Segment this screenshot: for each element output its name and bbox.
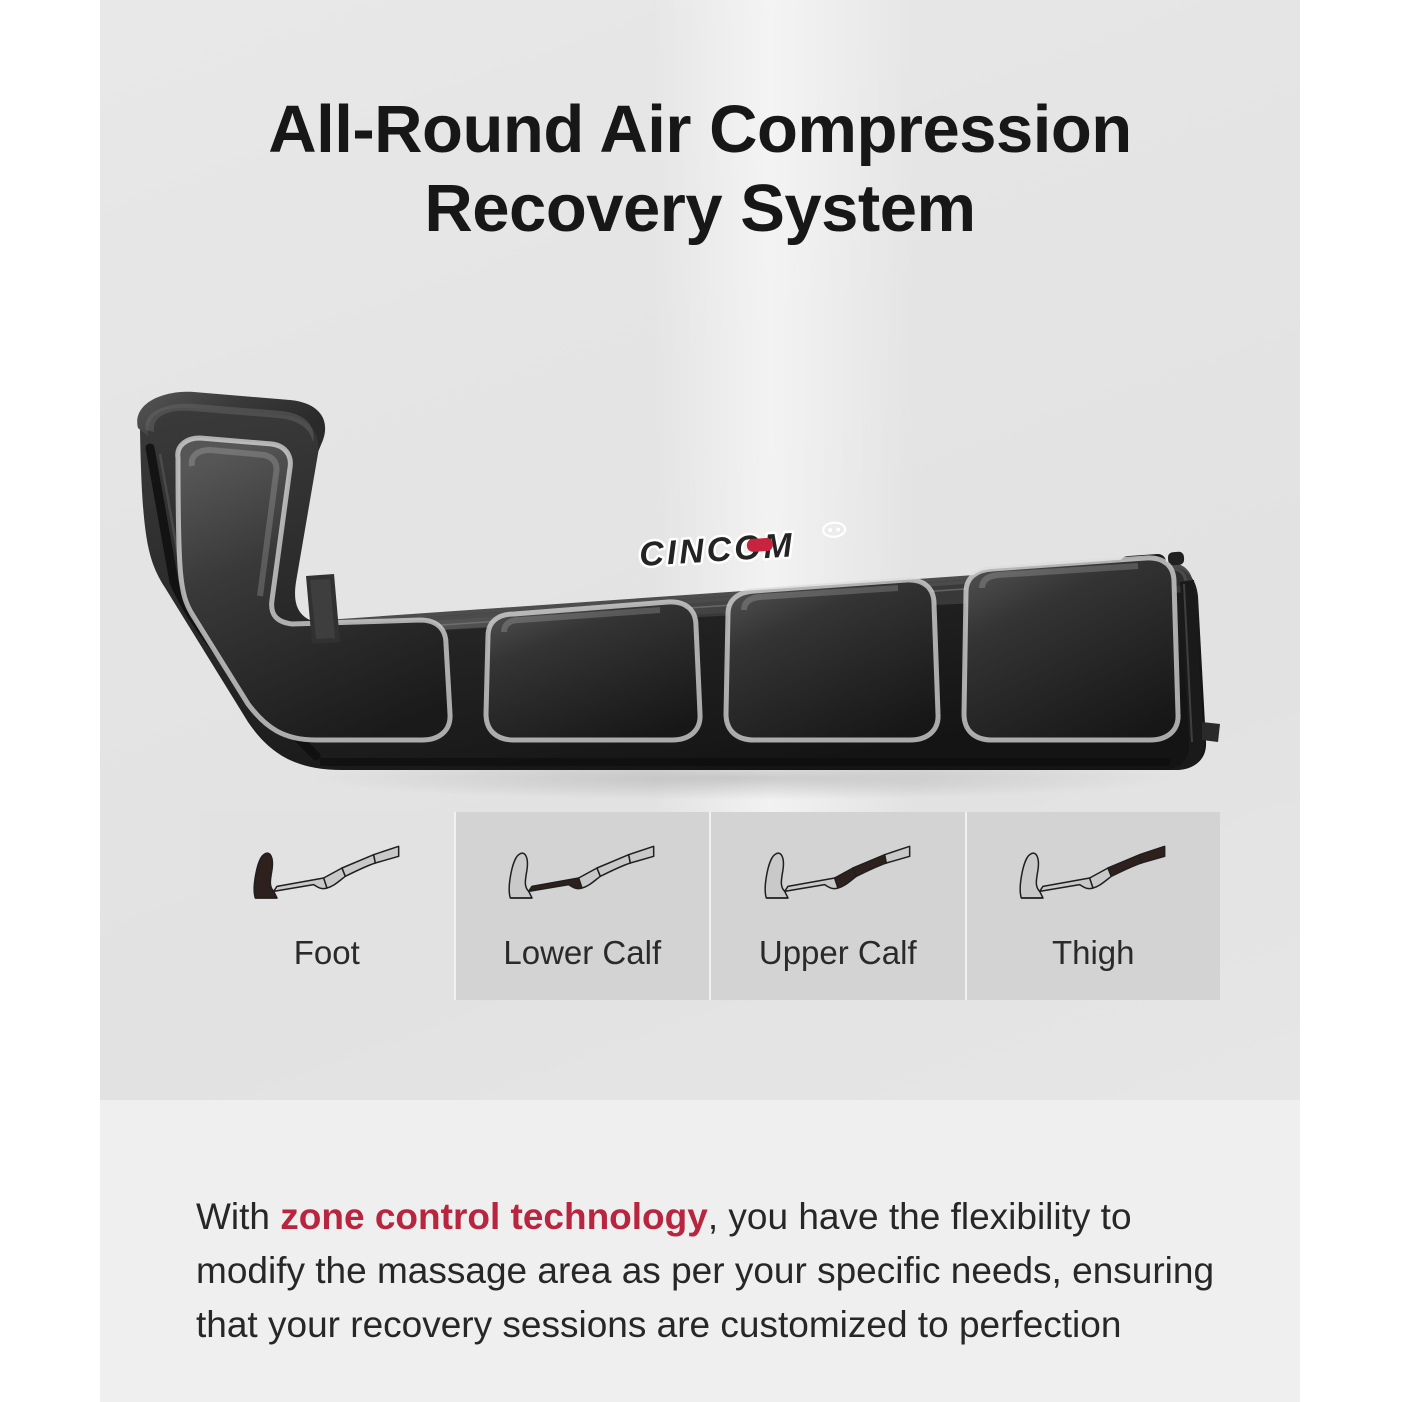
product-image: CINCOM CINCOM: [120, 370, 1260, 800]
leg-zone-upper-calf-icon: [754, 838, 922, 908]
zone-cell-thigh[interactable]: Thigh: [967, 812, 1221, 1000]
page-title-line-2: Recovery System: [424, 171, 975, 246]
brand-logo-fill: CINCOM: [638, 526, 796, 574]
boot-pull-tab: [1202, 722, 1220, 742]
infographic-page: All-Round Air Compression Recovery Syste…: [0, 0, 1402, 1402]
zone-label-foot: Foot: [294, 934, 360, 972]
page-title: All-Round Air Compression Recovery Syste…: [100, 90, 1300, 248]
air-chamber-lower-calf: [486, 602, 700, 740]
zone-cell-lower-calf[interactable]: Lower Calf: [456, 812, 712, 1000]
page-title-line-1: All-Round Air Compression: [268, 92, 1131, 167]
brand-logo-emblem: [823, 522, 846, 537]
air-chamber-upper-calf: [726, 580, 938, 740]
zone-label-thigh: Thigh: [1052, 934, 1135, 972]
zone-cell-upper-calf[interactable]: Upper Calf: [711, 812, 967, 1000]
leg-zone-foot-icon: [243, 838, 411, 908]
brand-logo: CINCOM CINCOM: [638, 522, 847, 574]
leg-zone-lower-calf-icon: [498, 838, 666, 908]
zone-selector-strip: Foot Lower Calf: [200, 812, 1220, 1000]
description-before-text: With: [196, 1196, 280, 1237]
zone-label-upper-calf: Upper Calf: [759, 934, 917, 972]
leg-zone-thigh-icon: [1009, 838, 1177, 908]
zone-cell-foot[interactable]: Foot: [200, 812, 456, 1000]
brand-logo-accent: [747, 538, 774, 553]
air-chamber-thigh: [964, 558, 1178, 740]
zone-label-lower-calf: Lower Calf: [503, 934, 661, 972]
description-accent-text: zone control technology: [280, 1196, 708, 1237]
description-paragraph: With zone control technology, you have t…: [196, 1190, 1216, 1352]
ankle-strap: [306, 574, 340, 644]
